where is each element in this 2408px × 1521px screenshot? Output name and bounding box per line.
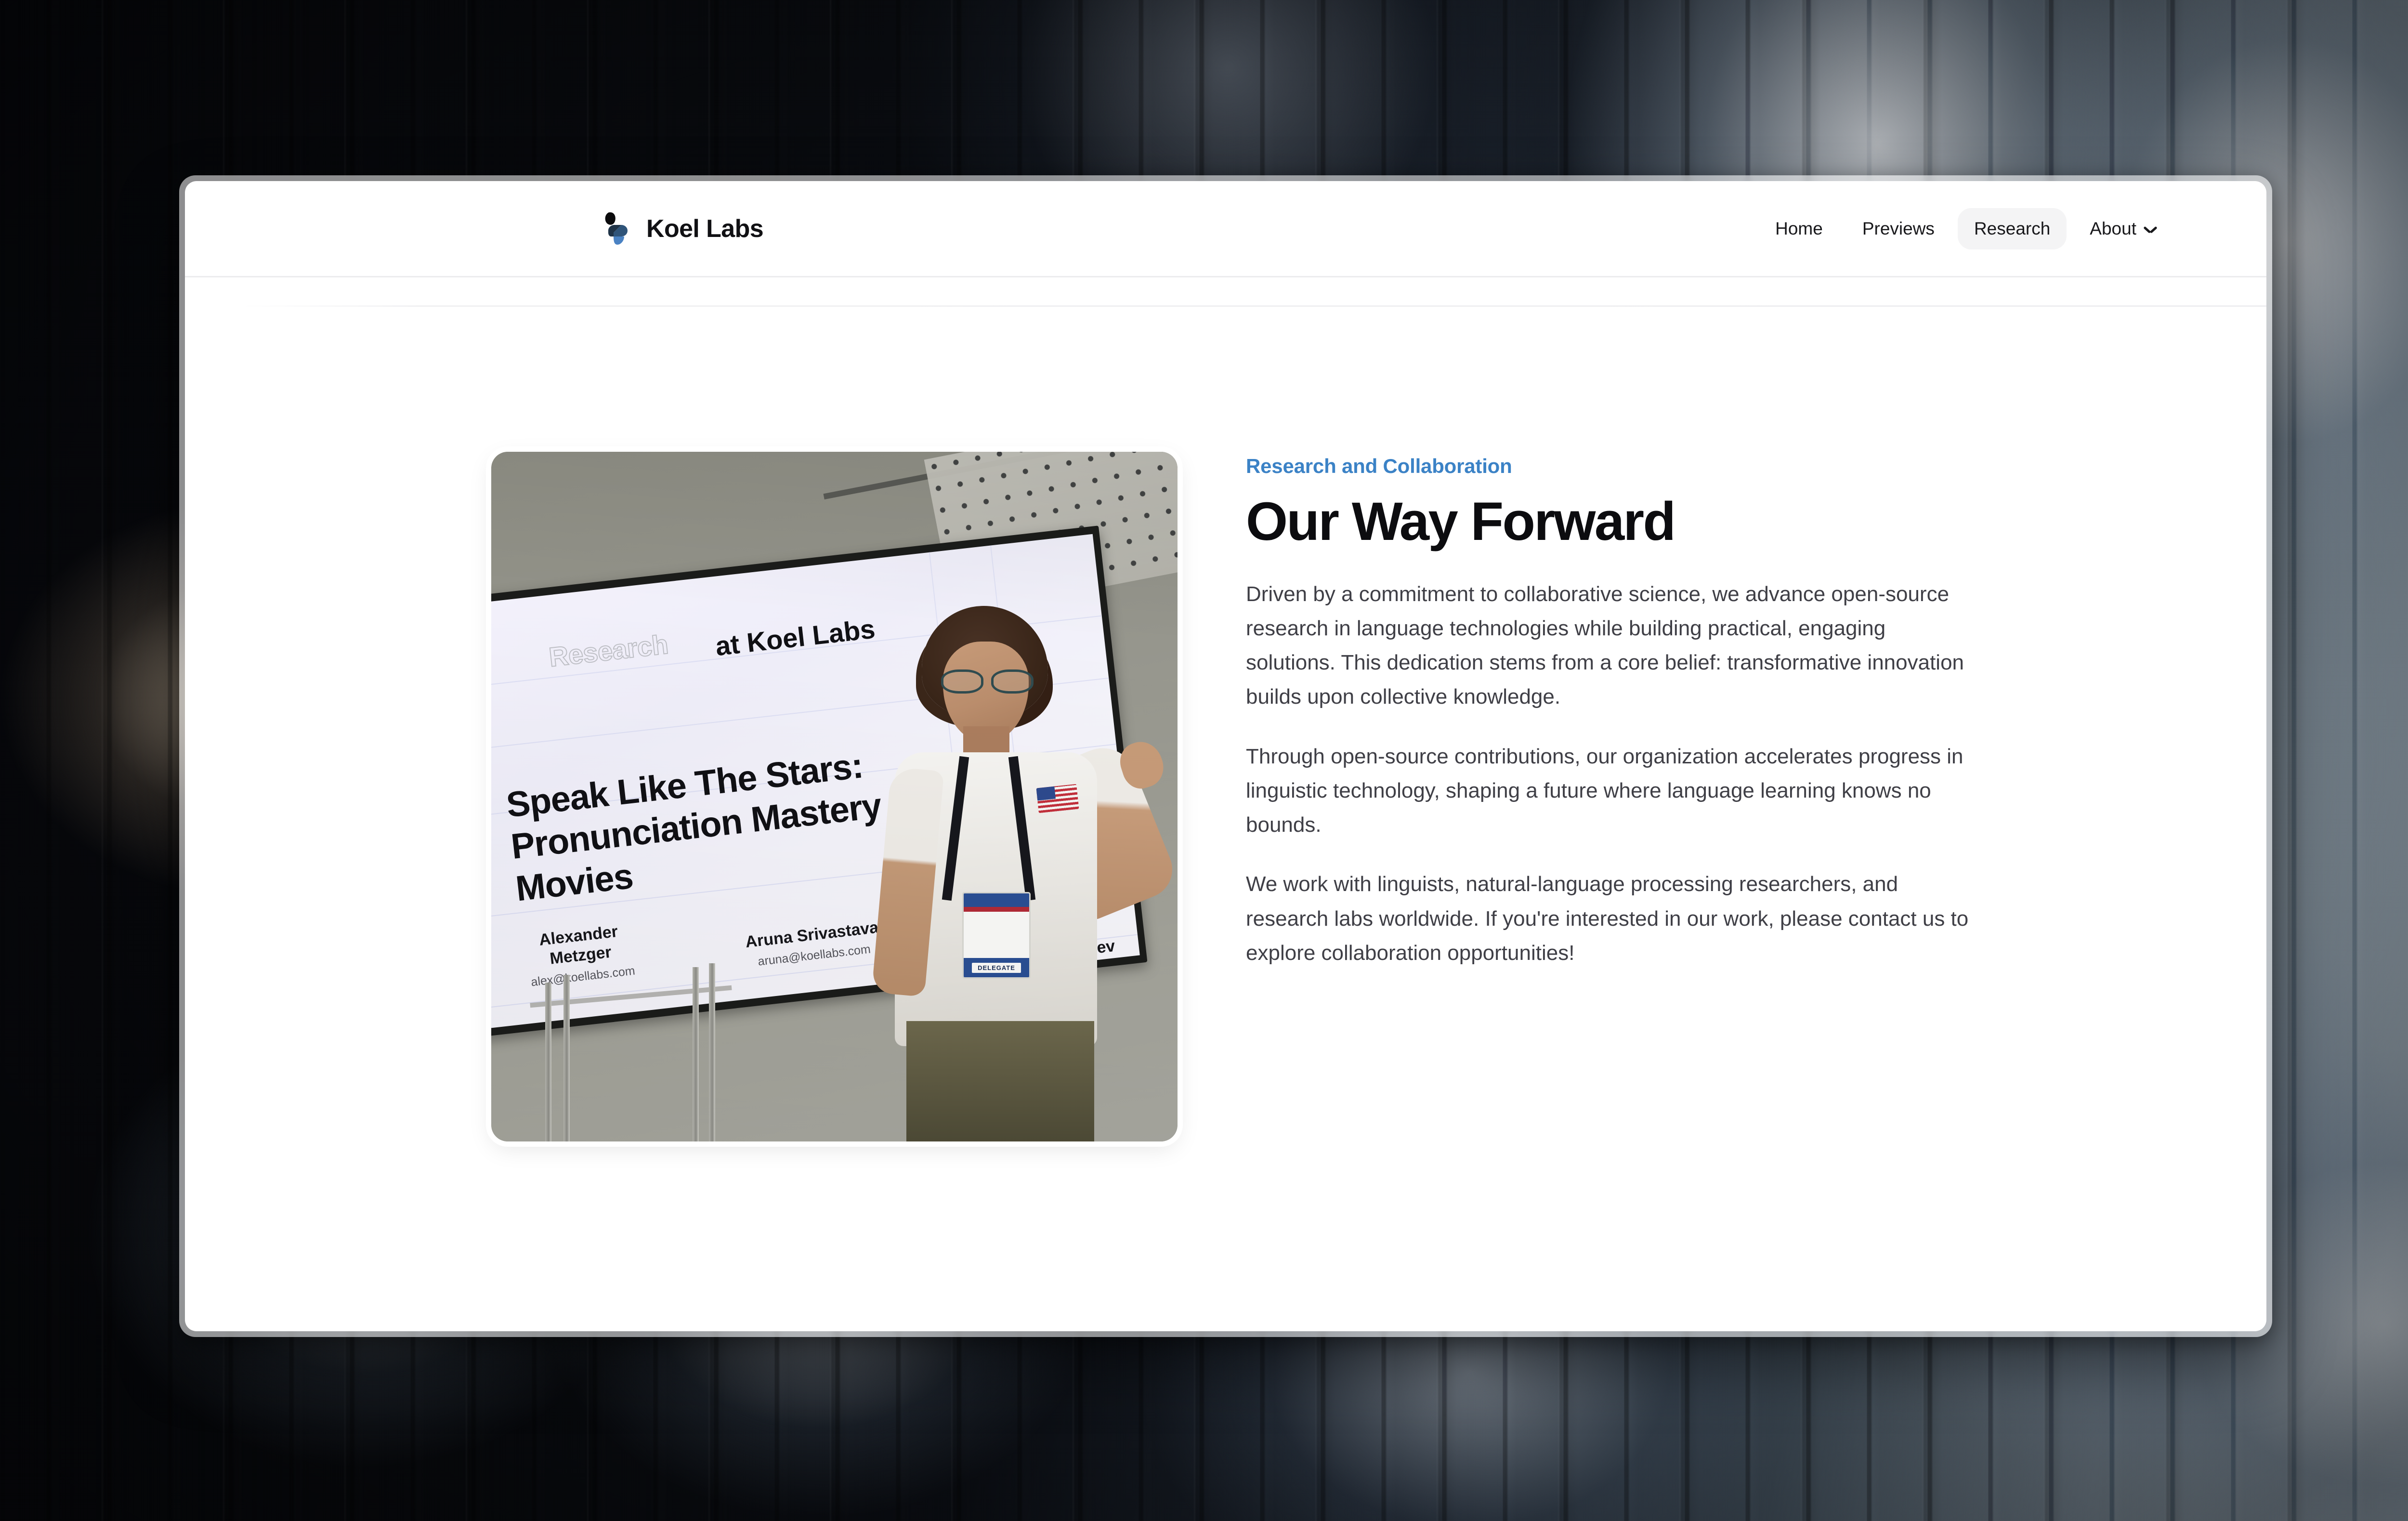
main-content: Research at Koel Labs Speak Like The Sta… <box>185 277 2266 1141</box>
brand[interactable]: Koel Labs <box>599 210 763 247</box>
nav-item-research[interactable]: Research <box>1958 208 2067 249</box>
nav-item-about[interactable]: About <box>2073 208 2168 249</box>
nav-item-previews[interactable]: Previews <box>1846 208 1951 249</box>
chevron-down-icon <box>2144 225 2157 233</box>
body-paragraph: We work with linguists, natural-language… <box>1246 867 1973 970</box>
browser-window: Koel Labs Home Previews Research About <box>179 175 2272 1337</box>
nav-item-home[interactable]: Home <box>1759 208 1839 249</box>
flag-patch-icon <box>1036 784 1079 813</box>
text-column: Research and Collaboration Our Way Forwa… <box>1246 452 1988 1141</box>
body-paragraph: Driven by a commitment to collaborative … <box>1246 577 1973 714</box>
presenter-pants <box>906 1021 1094 1141</box>
header-sub-divider <box>242 305 2266 307</box>
nav-item-about-label: About <box>2090 219 2136 239</box>
screen-stand-leg <box>709 963 715 1141</box>
screen-stand-leg <box>693 967 699 1141</box>
conference-badge: DELEGATE <box>962 892 1031 979</box>
section-eyebrow: Research and Collaboration <box>1246 455 1988 478</box>
screen-stand-leg <box>563 975 570 1141</box>
browser-viewport: Koel Labs Home Previews Research About <box>185 181 2266 1331</box>
photo-inner: Research at Koel Labs Speak Like The Sta… <box>491 452 1178 1141</box>
screen-stand-leg <box>545 983 551 1141</box>
page-title: Our Way Forward <box>1246 493 1988 550</box>
conference-presentation-photo: Research at Koel Labs Speak Like The Sta… <box>491 452 1178 1141</box>
badge-label: DELEGATE <box>972 963 1021 973</box>
koel-bird-logo-icon <box>599 210 636 247</box>
presenter: DELEGATE <box>849 597 1157 1141</box>
main-navigation: Home Previews Research About <box>1759 208 2168 249</box>
site-header: Koel Labs Home Previews Research About <box>185 181 2266 277</box>
slide-author: Alexander Metzger alex@koellabs.com <box>506 918 655 992</box>
body-paragraph: Through open-source contributions, our o… <box>1246 739 1973 842</box>
glasses-icon <box>941 669 1034 690</box>
brand-name: Koel Labs <box>646 214 763 243</box>
